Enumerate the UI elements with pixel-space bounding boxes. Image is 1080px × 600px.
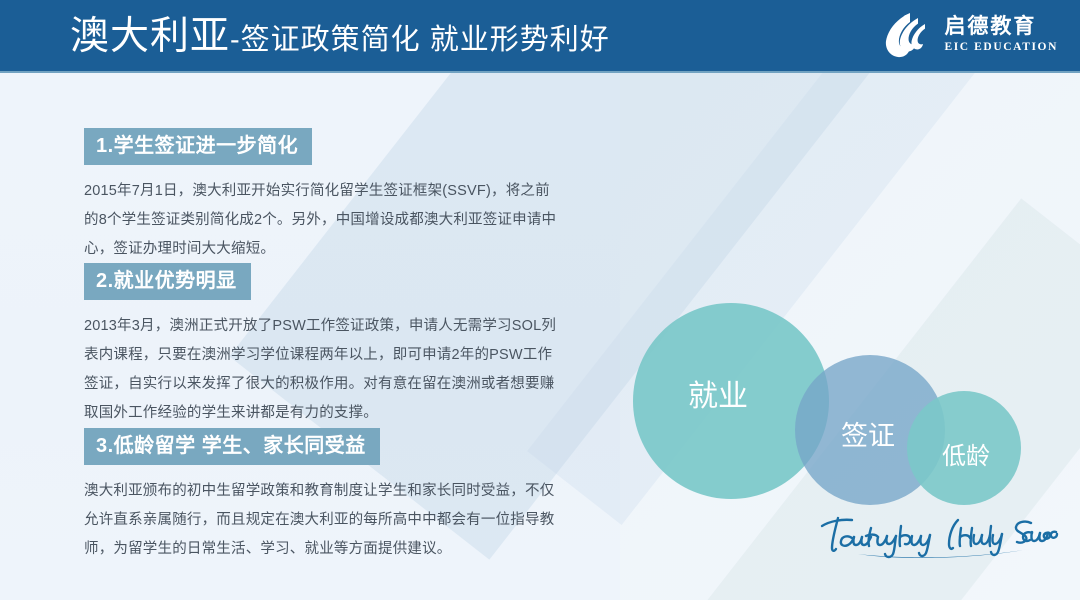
section-student-visa: 1.学生签证进一步简化 2015年7月1日，澳大利亚开始实行简化留学生签证框架(… bbox=[84, 128, 559, 264]
section-young-students: 3.低龄留学 学生、家长同受益 澳大利亚颁布的初中生留学政策和教育制度让学生和家… bbox=[84, 428, 559, 564]
brand-logo-text: 启德教育 EIC EDUCATION bbox=[944, 15, 1058, 55]
section-heading: 3.低龄留学 学生、家长同受益 bbox=[84, 428, 380, 465]
page-title: 澳大利亚-签证政策简化 就业形势利好 bbox=[70, 8, 610, 69]
brand-logo: 启德教育 EIC EDUCATION bbox=[880, 9, 1058, 61]
header-bar: 澳大利亚-签证政策简化 就业形势利好 启德教育 EIC EDUCATION bbox=[0, 0, 1080, 73]
section-employment: 2.就业优势明显 2013年3月，澳洲正式开放了PSW工作签证政策，申请人无需学… bbox=[84, 263, 559, 428]
section-body: 2013年3月，澳洲正式开放了PSW工作签证政策，申请人无需学习SOL列表内课程… bbox=[84, 312, 559, 428]
brand-name-en: EIC EDUCATION bbox=[944, 39, 1058, 55]
section-body: 澳大利亚颁布的初中生留学政策和教育制度让学生和家长同时受益，不仅允许直系亲属随行… bbox=[84, 477, 559, 564]
page-title-main: 澳大利亚 bbox=[70, 15, 230, 58]
page-title-sub: -签证政策简化 就业形势利好 bbox=[230, 24, 610, 56]
eic-flame-logo-icon bbox=[880, 9, 932, 61]
content-column: 1.学生签证进一步简化 2015年7月1日，澳大利亚开始实行简化留学生签证框架(… bbox=[0, 73, 620, 600]
section-heading: 1.学生签证进一步简化 bbox=[84, 128, 312, 165]
brand-tagline: Teaching Lifelong Success bbox=[816, 504, 1066, 564]
brand-name-cn: 启德教育 bbox=[944, 15, 1058, 39]
section-body: 2015年7月1日，澳大利亚开始实行简化留学生签证框架(SSVF)，将之前的8个… bbox=[84, 177, 559, 264]
section-heading: 2.就业优势明显 bbox=[84, 263, 251, 300]
slide-root: 澳大利亚-签证政策简化 就业形势利好 启德教育 EIC EDUCATION bbox=[0, 0, 1080, 600]
